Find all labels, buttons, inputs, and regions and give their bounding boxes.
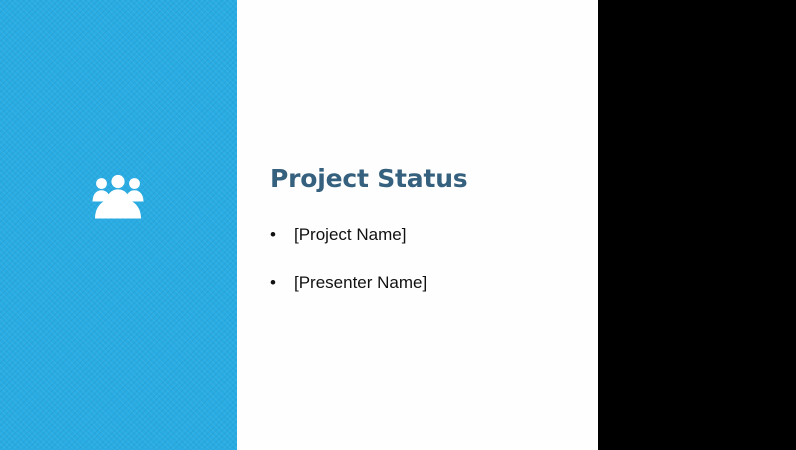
bullet-text-presenter-name: [Presenter Name] [294,273,427,292]
left-accent-panel [0,0,237,450]
bullet-list: • [Project Name] • [Presenter Name] [268,224,578,294]
people-group-icon [92,174,144,222]
accent-panel-texture [0,0,237,450]
bullet-marker-icon: • [270,272,284,294]
content-area: Project Status • [Project Name] • [Prese… [268,0,578,450]
bullet-marker-icon: • [270,224,284,246]
bullet-text-project-name: [Project Name] [294,225,406,244]
slide-stage: Project Status • [Project Name] • [Prese… [0,0,796,450]
slide-title: Project Status [270,164,467,193]
bullet-item-presenter-name[interactable]: • [Presenter Name] [268,272,578,294]
slide-canvas: Project Status • [Project Name] • [Prese… [0,0,598,450]
bullet-item-project-name[interactable]: • [Project Name] [268,224,578,246]
letterbox-right [598,0,796,450]
